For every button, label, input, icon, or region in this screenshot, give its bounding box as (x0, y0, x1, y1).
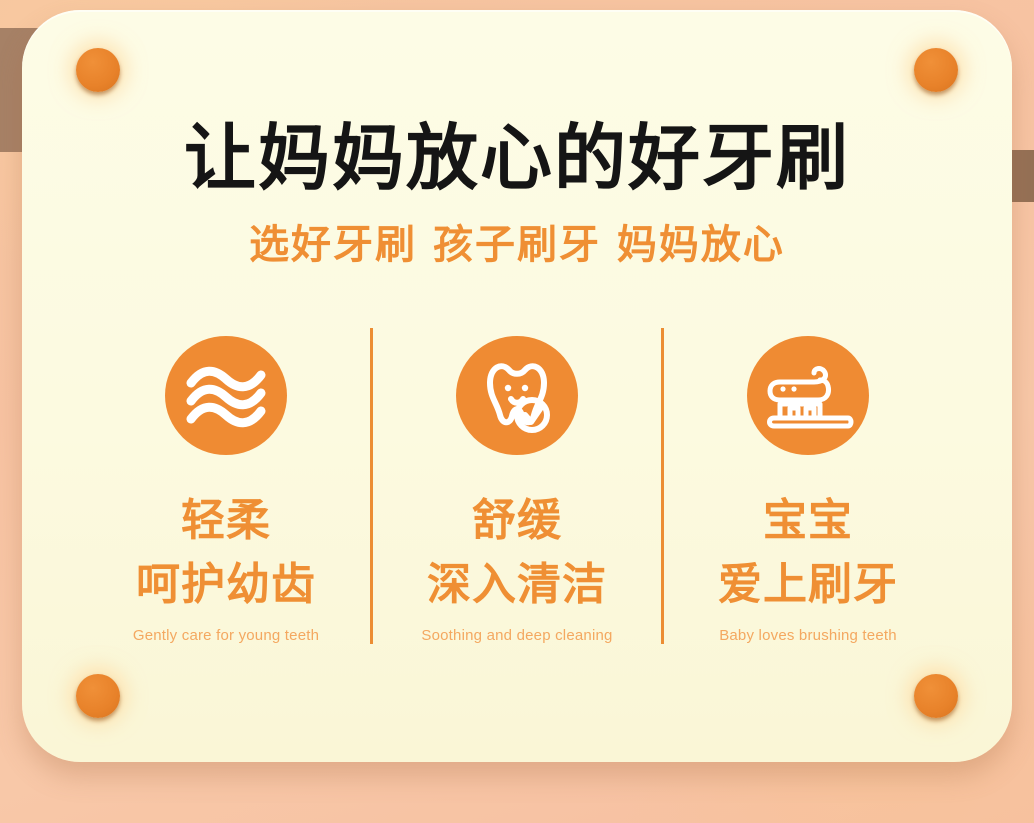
feature-caption: Soothing and deep cleaning (421, 627, 612, 644)
feature-caption: Baby loves brushing teeth (719, 627, 897, 644)
smiling-tooth-check-icon (456, 336, 578, 455)
feature-title-line1: 宝宝 (763, 495, 853, 546)
feature-title-line2: 深入清洁 (427, 553, 607, 617)
feature-title-line1: 轻柔 (181, 495, 271, 546)
feature-title: 舒缓 深入清洁 (427, 489, 607, 617)
poster-stage: 让妈妈放心的好牙刷 选好牙刷 孩子刷牙 妈妈放心 轻柔 呵护幼齿 (0, 0, 1034, 823)
poster-card: 让妈妈放心的好牙刷 选好牙刷 孩子刷牙 妈妈放心 轻柔 呵护幼齿 (22, 10, 1012, 762)
feature-title-line2: 呵护幼齿 (136, 553, 316, 617)
feature-caption: Gently care for young teeth (133, 627, 319, 644)
feature-title: 轻柔 呵护幼齿 (136, 489, 316, 617)
feature-row: 轻柔 呵护幼齿 Gently care for young teeth (82, 328, 952, 644)
feature-baby: 宝宝 爱上刷牙 Baby loves brushing teeth (664, 328, 952, 644)
feature-soothing: 舒缓 深入清洁 Soothing and deep cleaning (373, 328, 661, 644)
toothbrush-paste-icon (747, 336, 869, 455)
feature-gentle: 轻柔 呵护幼齿 Gently care for young teeth (82, 328, 370, 644)
rivet-top-left (76, 48, 120, 92)
feature-title-line2: 爱上刷牙 (718, 553, 898, 617)
page-subtitle: 选好牙刷 孩子刷牙 妈妈放心 (22, 225, 1012, 265)
rivet-bottom-right (914, 674, 958, 718)
soft-waves-icon (165, 336, 287, 455)
rivet-top-right (914, 48, 958, 92)
rivet-bottom-left (76, 674, 120, 718)
feature-title-line1: 舒缓 (472, 495, 562, 546)
feature-title: 宝宝 爱上刷牙 (718, 489, 898, 617)
page-title: 让妈妈放心的好牙刷 (22, 122, 1012, 194)
